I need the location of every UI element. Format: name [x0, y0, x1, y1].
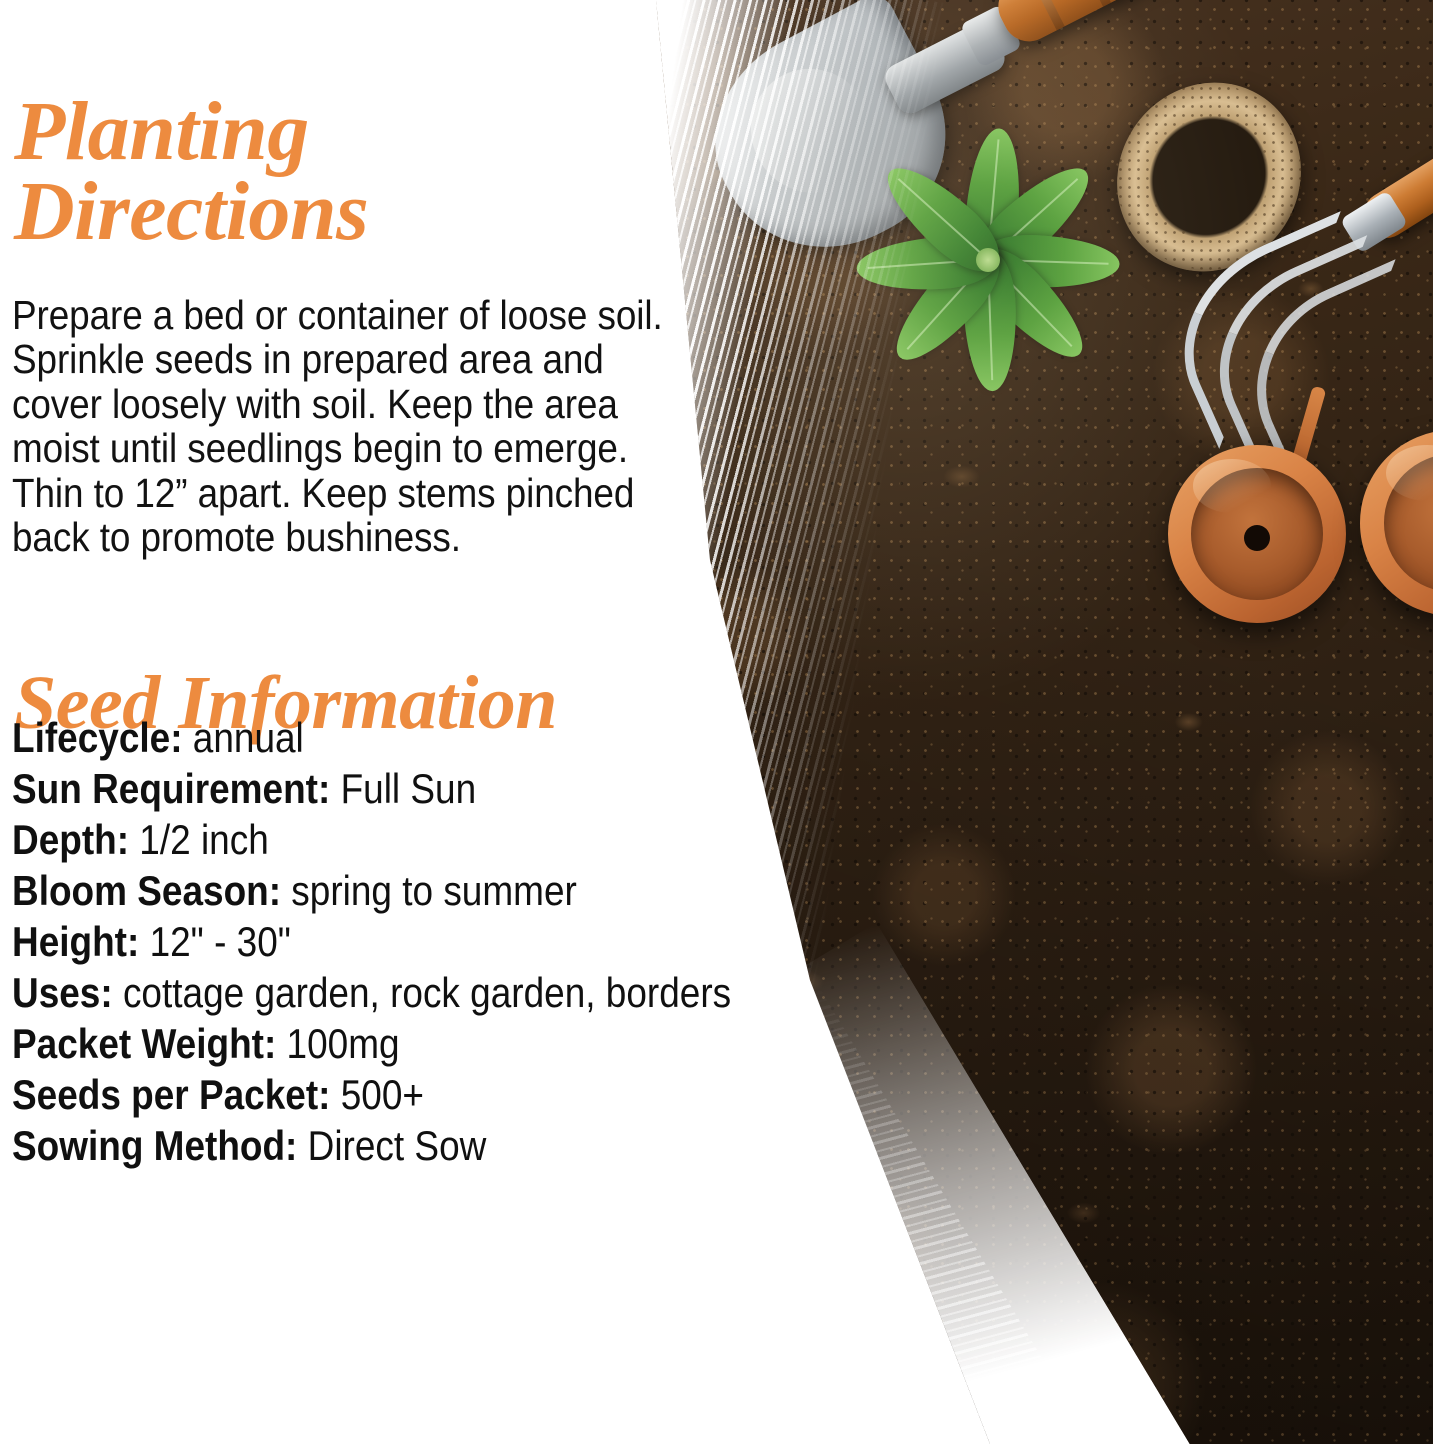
seed-info-row: Depth: 1/2 inch [12, 814, 945, 865]
seed-info-value: 1/2 inch [139, 816, 268, 863]
seed-info-row: Bloom Season: spring to summer [12, 865, 945, 916]
seed-info-label: Uses: [12, 969, 113, 1016]
seed-info-value: cottage garden, rock garden, borders [123, 969, 731, 1016]
planting-directions-body: Prepare a bed or container of loose soil… [12, 293, 669, 560]
seed-info-value: annual [193, 714, 304, 761]
seed-info-value: Full Sun [341, 765, 477, 812]
seed-info-row: Lifecycle: annual [12, 712, 945, 763]
seed-info-label: Packet Weight: [12, 1020, 276, 1067]
seed-info-label: Height: [12, 918, 139, 965]
seed-packet-info-card: Planting Directions Prepare a bed or con… [0, 0, 1433, 1444]
planting-directions-heading: Planting Directions [14, 92, 614, 252]
seed-info-row: Height: 12" - 30" [12, 916, 945, 967]
seed-info-label: Sowing Method: [12, 1122, 297, 1169]
seed-info-value: spring to summer [291, 867, 577, 914]
seed-info-value: 100mg [287, 1020, 400, 1067]
seed-info-row: Uses: cottage garden, rock garden, borde… [12, 967, 945, 1018]
seed-information-list: Lifecycle: annualSun Requirement: Full S… [12, 712, 945, 1171]
seed-info-label: Sun Requirement: [12, 765, 330, 812]
seed-info-label: Seeds per Packet: [12, 1071, 330, 1118]
seed-info-value: 500+ [341, 1071, 424, 1118]
seed-info-row: Packet Weight: 100mg [12, 1018, 945, 1069]
seed-info-row: Seeds per Packet: 500+ [12, 1069, 945, 1120]
seed-info-value: Direct Sow [308, 1122, 487, 1169]
seed-info-label: Depth: [12, 816, 129, 863]
seed-info-label: Bloom Season: [12, 867, 281, 914]
seed-info-row: Sowing Method: Direct Sow [12, 1120, 945, 1171]
text-column: Planting Directions Prepare a bed or con… [0, 0, 620, 1444]
seed-info-value: 12" - 30" [150, 918, 291, 965]
seed-info-row: Sun Requirement: Full Sun [12, 763, 945, 814]
seed-info-label: Lifecycle: [12, 714, 183, 761]
